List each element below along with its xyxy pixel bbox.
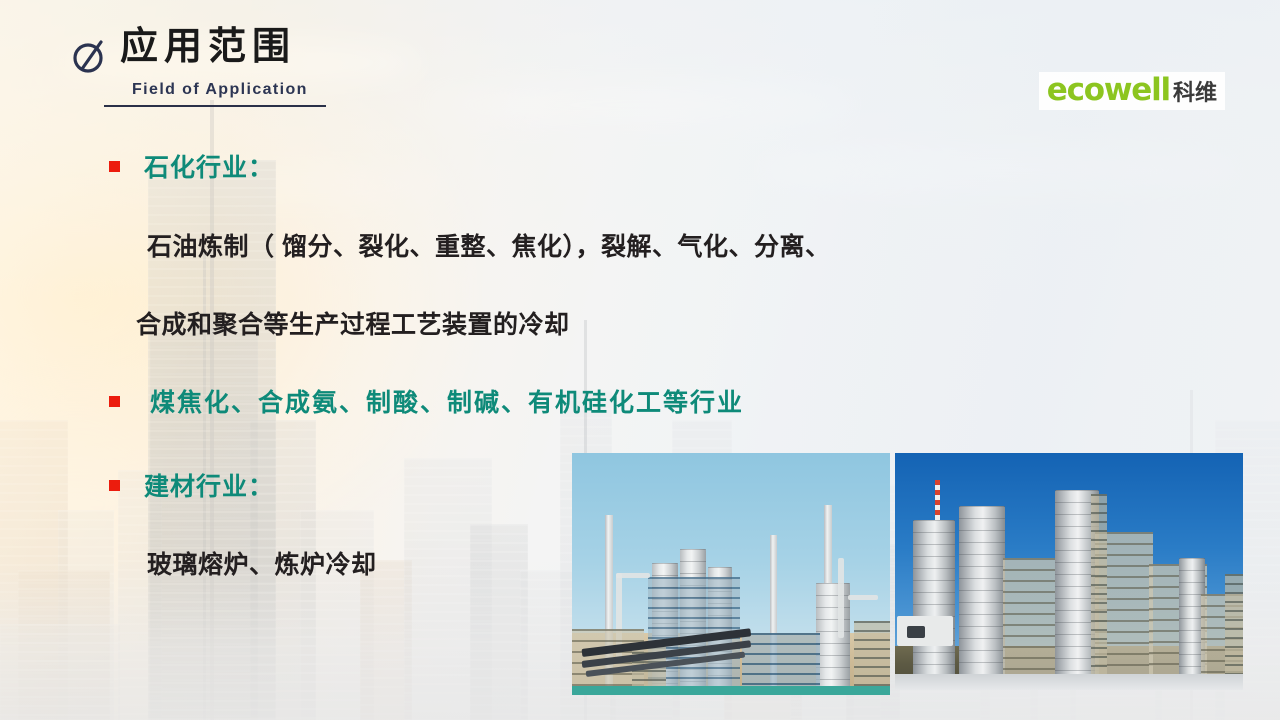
square-bullet-icon bbox=[109, 396, 120, 407]
square-bullet-icon bbox=[109, 480, 120, 491]
list-item: 合成和聚合等生产过程工艺装置的冷却 bbox=[0, 305, 1280, 341]
petrochemical-refinery-photo bbox=[572, 453, 890, 695]
list-item-label: 玻璃熔炉、炼炉冷却 bbox=[147, 545, 377, 581]
page-subtitle: Field of Application bbox=[132, 81, 326, 99]
slide: 应用范围 Field of Application ecowell 科维 石化行… bbox=[0, 0, 1280, 720]
list-item: 石油炼制（ 馏分、裂化、重整、焦化），裂解、气化、分离、 bbox=[0, 227, 1280, 263]
list-item: 石化行业： bbox=[0, 148, 1280, 184]
title-underline bbox=[104, 105, 326, 107]
list-item-label: 石油炼制（ 馏分、裂化、重整、焦化），裂解、气化、分离、 bbox=[147, 227, 830, 263]
list-item-label: 石化行业： bbox=[144, 148, 274, 184]
photo-accent-strip bbox=[572, 686, 890, 695]
square-bullet-icon bbox=[109, 161, 120, 172]
list-item-label: 煤焦化、合成氨、制酸、制碱、有机硅化工等行业 bbox=[150, 383, 744, 419]
page-title: 应用范围 bbox=[120, 24, 296, 72]
logo-chinese-name: 科维 bbox=[1173, 82, 1217, 104]
page-header: 应用范围 Field of Application bbox=[68, 24, 326, 107]
list-item-label: 建材行业： bbox=[144, 467, 274, 503]
brand-logo: ecowell 科维 bbox=[1039, 72, 1225, 110]
list-item-label: 合成和聚合等生产过程工艺装置的冷却 bbox=[136, 305, 570, 341]
circle-slash-icon bbox=[68, 32, 112, 80]
industrial-plant-photo bbox=[895, 453, 1243, 690]
photo-bottom-edge bbox=[895, 674, 1243, 690]
logo-wordmark: ecowell bbox=[1047, 75, 1170, 106]
list-item: 煤焦化、合成氨、制酸、制碱、有机硅化工等行业 bbox=[0, 383, 1280, 419]
